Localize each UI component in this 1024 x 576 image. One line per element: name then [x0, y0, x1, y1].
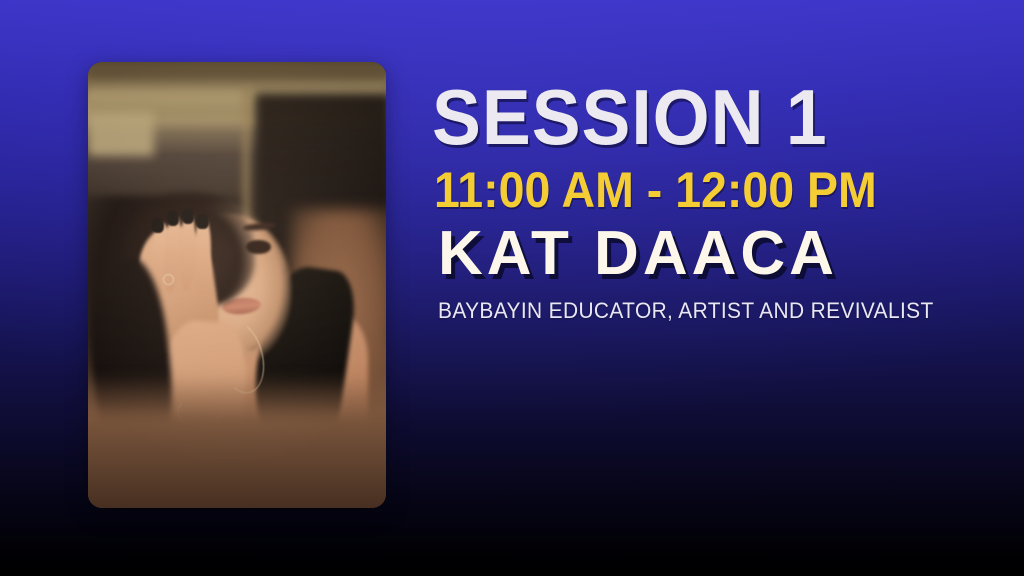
photo-color-grade-overlay	[88, 62, 386, 508]
speaker-photo	[88, 62, 386, 508]
session-title: SESSION 1	[432, 80, 921, 155]
speaker-name: KAT DAACA	[438, 223, 952, 285]
session-time: 11:00 AM - 12:00 PM	[434, 165, 916, 215]
speaker-photo-image	[88, 62, 386, 508]
slide-text-block: SESSION 1 11:00 AM - 12:00 PM KAT DAACA …	[432, 80, 952, 323]
speaker-role: BAYBAYIN EDUCATOR, ARTIST AND REVIVALIST	[438, 299, 926, 323]
speaker-announcement-slide: SESSION 1 11:00 AM - 12:00 PM KAT DAACA …	[0, 0, 1024, 576]
